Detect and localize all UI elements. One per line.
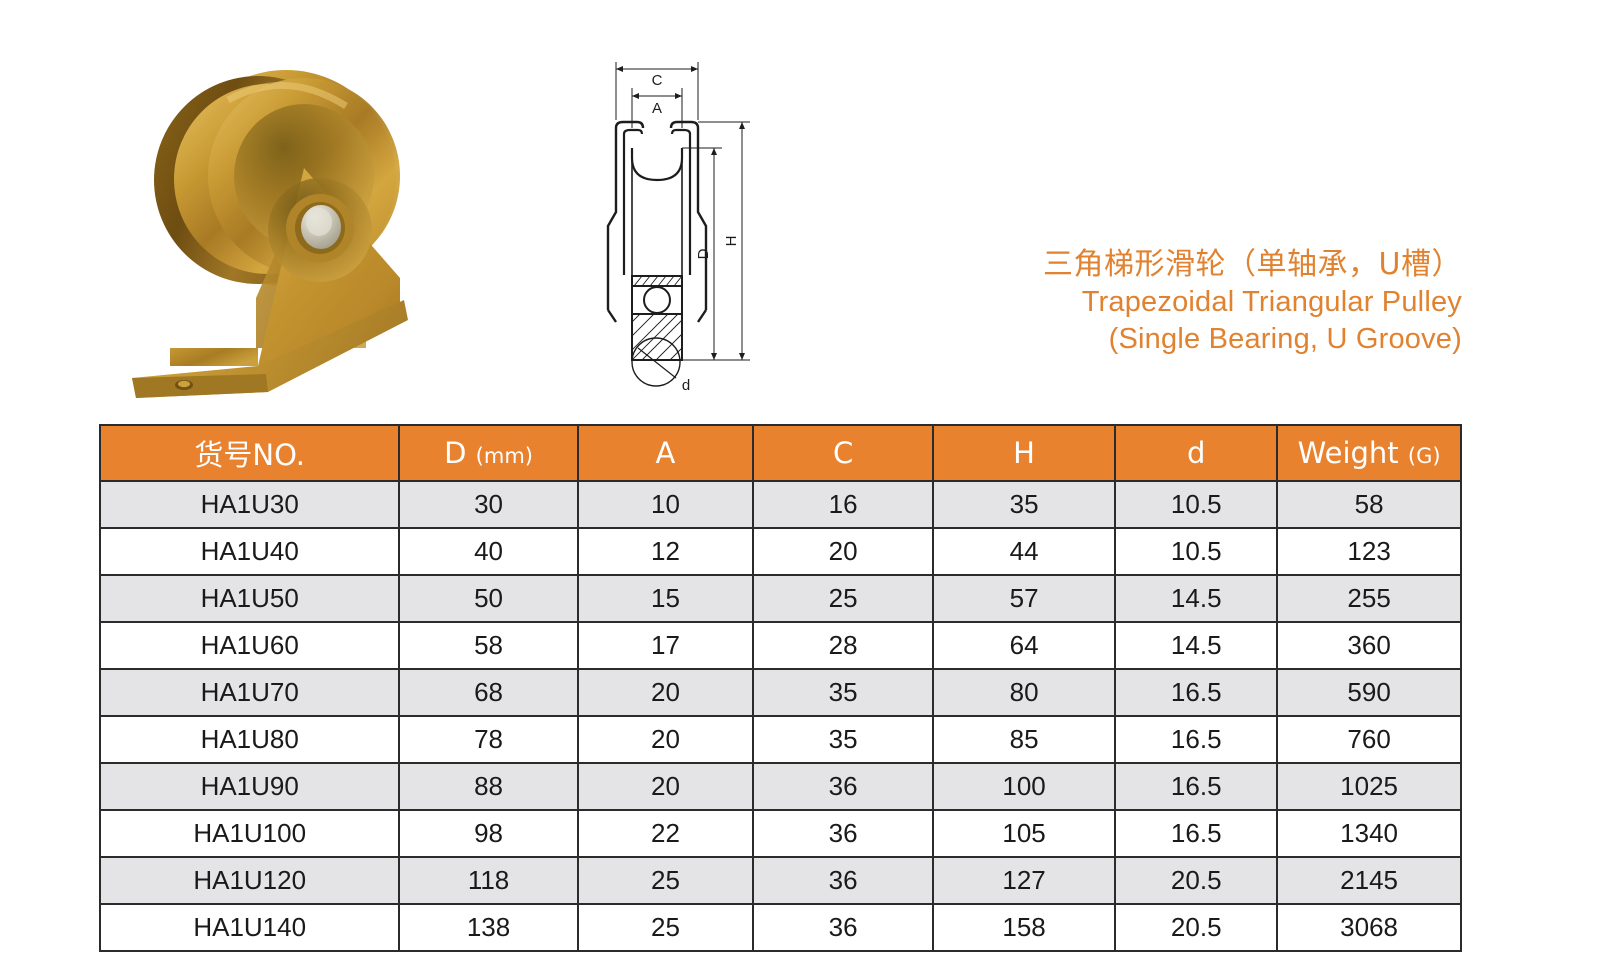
cell-d-minor: 14.5 [1115,575,1277,622]
cell-c: 36 [753,810,933,857]
column-header-c: C [753,425,933,481]
cell-weight: 123 [1277,528,1461,575]
cell-part-number: HA1U30 [100,481,399,528]
column-header-c-label: C [833,436,853,470]
specification-table: 货号NO. D (mm) A C H d Weight (G) HA1U3030… [99,424,1462,952]
product-title-chinese: 三角梯形滑轮（单轴承，U槽） [1043,246,1462,284]
table-row: HA1U605817286414.5360 [100,622,1461,669]
cell-weight: 1025 [1277,763,1461,810]
cell-d-minor: 20.5 [1115,857,1277,904]
cell-d: 118 [399,857,577,904]
cell-d: 50 [399,575,577,622]
cell-a: 17 [578,622,754,669]
cell-part-number: HA1U120 [100,857,399,904]
column-header-d-min: d [1115,425,1277,481]
table-header-row: 货号NO. D (mm) A C H d Weight (G) [100,425,1461,481]
table-row: HA1U706820358016.5590 [100,669,1461,716]
cell-a: 15 [578,575,754,622]
cell-c: 35 [753,716,933,763]
cell-d-minor: 10.5 [1115,528,1277,575]
cell-h: 158 [933,904,1115,951]
cell-d: 58 [399,622,577,669]
cell-c: 35 [753,669,933,716]
table-row: HA1U10098223610516.51340 [100,810,1461,857]
cell-h: 57 [933,575,1115,622]
cell-d: 68 [399,669,577,716]
column-header-d: D (mm) [399,425,577,481]
table-row: HA1U404012204410.5123 [100,528,1461,575]
cell-d: 88 [399,763,577,810]
column-header-no-label: 货号NO. [194,438,305,472]
cell-h: 85 [933,716,1115,763]
table-row: HA1U807820358516.5760 [100,716,1461,763]
cell-c: 36 [753,857,933,904]
cell-weight: 3068 [1277,904,1461,951]
cell-weight: 760 [1277,716,1461,763]
cell-part-number: HA1U90 [100,763,399,810]
column-header-weight: Weight (G) [1277,425,1461,481]
cell-h: 100 [933,763,1115,810]
cell-h: 80 [933,669,1115,716]
cell-d: 98 [399,810,577,857]
cell-h: 44 [933,528,1115,575]
cell-c: 36 [753,904,933,951]
column-header-a-label: A [656,436,676,470]
cell-part-number: HA1U70 [100,669,399,716]
cell-weight: 58 [1277,481,1461,528]
cell-h: 105 [933,810,1115,857]
cell-d-minor: 16.5 [1115,669,1277,716]
cell-part-number: HA1U50 [100,575,399,622]
cell-c: 36 [753,763,933,810]
cell-h: 35 [933,481,1115,528]
cell-part-number: HA1U140 [100,904,399,951]
cell-weight: 2145 [1277,857,1461,904]
product-photo [108,48,448,398]
cell-weight: 1340 [1277,810,1461,857]
column-header-d-min-label: d [1187,436,1205,470]
cell-d-minor: 14.5 [1115,622,1277,669]
dim-label-a: A [652,100,662,117]
table-row: HA1U505015255714.5255 [100,575,1461,622]
product-title-english-2: (Single Bearing, U Groove) [1043,321,1462,358]
dim-label-h: H [723,236,740,247]
cell-d-minor: 16.5 [1115,763,1277,810]
product-title-english-1: Trapezoidal Triangular Pulley [1043,284,1462,321]
cell-c: 16 [753,481,933,528]
cell-d: 78 [399,716,577,763]
cell-d: 40 [399,528,577,575]
cell-a: 20 [578,763,754,810]
column-header-d-unit: (mm) [476,444,533,468]
column-header-h: H [933,425,1115,481]
cell-part-number: HA1U40 [100,528,399,575]
table-row: HA1U140138253615820.53068 [100,904,1461,951]
cell-part-number: HA1U100 [100,810,399,857]
cell-part-number: HA1U80 [100,716,399,763]
product-title-block: 三角梯形滑轮（单轴承，U槽） Trapezoidal Triangular Pu… [1043,246,1462,358]
cell-a: 12 [578,528,754,575]
cell-d: 30 [399,481,577,528]
cell-d-minor: 20.5 [1115,904,1277,951]
table-row: HA1U303010163510.558 [100,481,1461,528]
cell-weight: 255 [1277,575,1461,622]
cell-part-number: HA1U60 [100,622,399,669]
column-header-d-label: D [444,436,466,470]
cell-a: 25 [578,904,754,951]
cell-d-minor: 10.5 [1115,481,1277,528]
cell-c: 28 [753,622,933,669]
dim-label-d-minor: d [682,377,690,394]
dim-label-d-major: D [695,248,712,259]
cell-h: 64 [933,622,1115,669]
column-header-no: 货号NO. [100,425,399,481]
cell-h: 127 [933,857,1115,904]
column-header-a: A [578,425,754,481]
cell-a: 20 [578,716,754,763]
technical-drawing: C A [570,40,795,405]
cell-a: 22 [578,810,754,857]
cell-weight: 590 [1277,669,1461,716]
column-header-weight-unit: (G) [1408,444,1441,468]
table-row: HA1U120118253612720.52145 [100,857,1461,904]
column-header-h-label: H [1013,436,1035,470]
column-header-weight-label: Weight [1298,436,1399,470]
cell-d-minor: 16.5 [1115,716,1277,763]
cell-a: 25 [578,857,754,904]
cell-a: 20 [578,669,754,716]
dim-label-c: C [652,72,663,89]
cell-d-minor: 16.5 [1115,810,1277,857]
cell-weight: 360 [1277,622,1461,669]
cell-d: 138 [399,904,577,951]
cell-a: 10 [578,481,754,528]
cell-c: 25 [753,575,933,622]
table-row: HA1U9088203610016.51025 [100,763,1461,810]
cell-c: 20 [753,528,933,575]
